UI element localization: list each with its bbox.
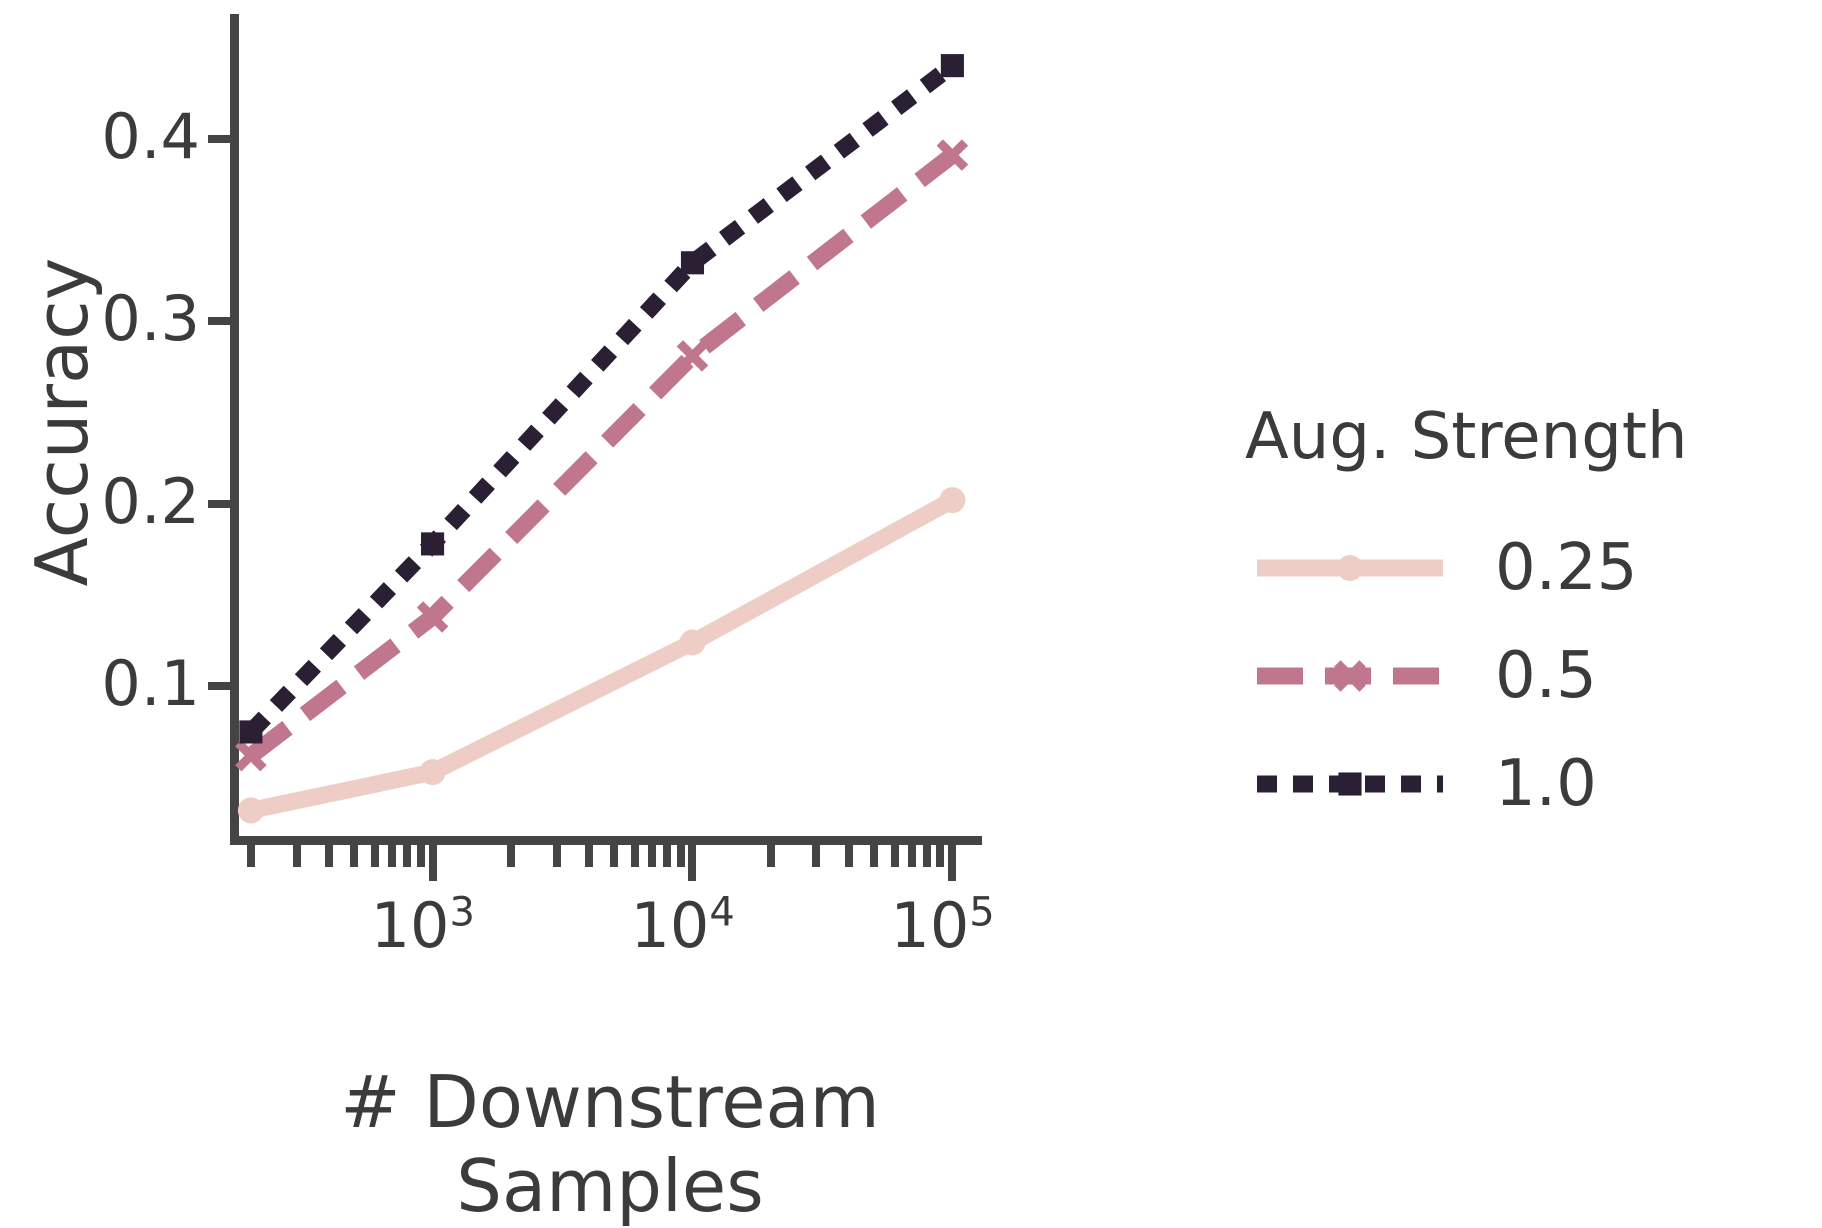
data-point-marker-circle bbox=[679, 629, 705, 655]
data-point-marker-circle bbox=[1337, 555, 1363, 581]
series-0-5 bbox=[235, 139, 968, 771]
series-1-0 bbox=[239, 54, 964, 743]
legend-title: Aug. Strength bbox=[1245, 400, 1805, 474]
legend-key-swatch bbox=[1245, 538, 1455, 598]
data-point-marker-square bbox=[681, 251, 704, 274]
series-0-25 bbox=[238, 487, 966, 823]
data-point-marker-square bbox=[239, 720, 262, 743]
chart-figure: 0.40.30.20.1 103104105 Accuracy # Downst… bbox=[0, 0, 1822, 1188]
data-point-marker-square bbox=[941, 54, 964, 77]
legend-key-swatch bbox=[1245, 754, 1455, 814]
legend-key-icon bbox=[1245, 754, 1455, 814]
legend-entry-0-5[interactable]: 0.5 bbox=[1245, 622, 1805, 730]
legend-key-icon bbox=[1245, 646, 1455, 706]
legend-entries: 0.250.51.0 bbox=[1245, 514, 1805, 838]
legend-entry-1-0[interactable]: 1.0 bbox=[1245, 730, 1805, 838]
data-point-marker-circle bbox=[420, 759, 446, 785]
legend-entry-label: 0.5 bbox=[1495, 639, 1597, 713]
legend-key-swatch bbox=[1245, 646, 1455, 706]
data-point-marker-square bbox=[421, 532, 444, 555]
data-point-marker-circle bbox=[238, 797, 264, 823]
data-point-marker-square bbox=[1338, 772, 1361, 795]
legend: Aug. Strength 0.250.51.0 bbox=[1245, 400, 1805, 838]
series-line bbox=[251, 66, 953, 732]
legend-entry-0-25[interactable]: 0.25 bbox=[1245, 514, 1805, 622]
legend-entry-label: 0.25 bbox=[1495, 531, 1638, 605]
legend-key-icon bbox=[1245, 538, 1455, 598]
series-line bbox=[251, 155, 953, 756]
series-line bbox=[251, 500, 953, 810]
data-point-marker-circle bbox=[939, 487, 965, 513]
legend-entry-label: 1.0 bbox=[1495, 747, 1597, 821]
